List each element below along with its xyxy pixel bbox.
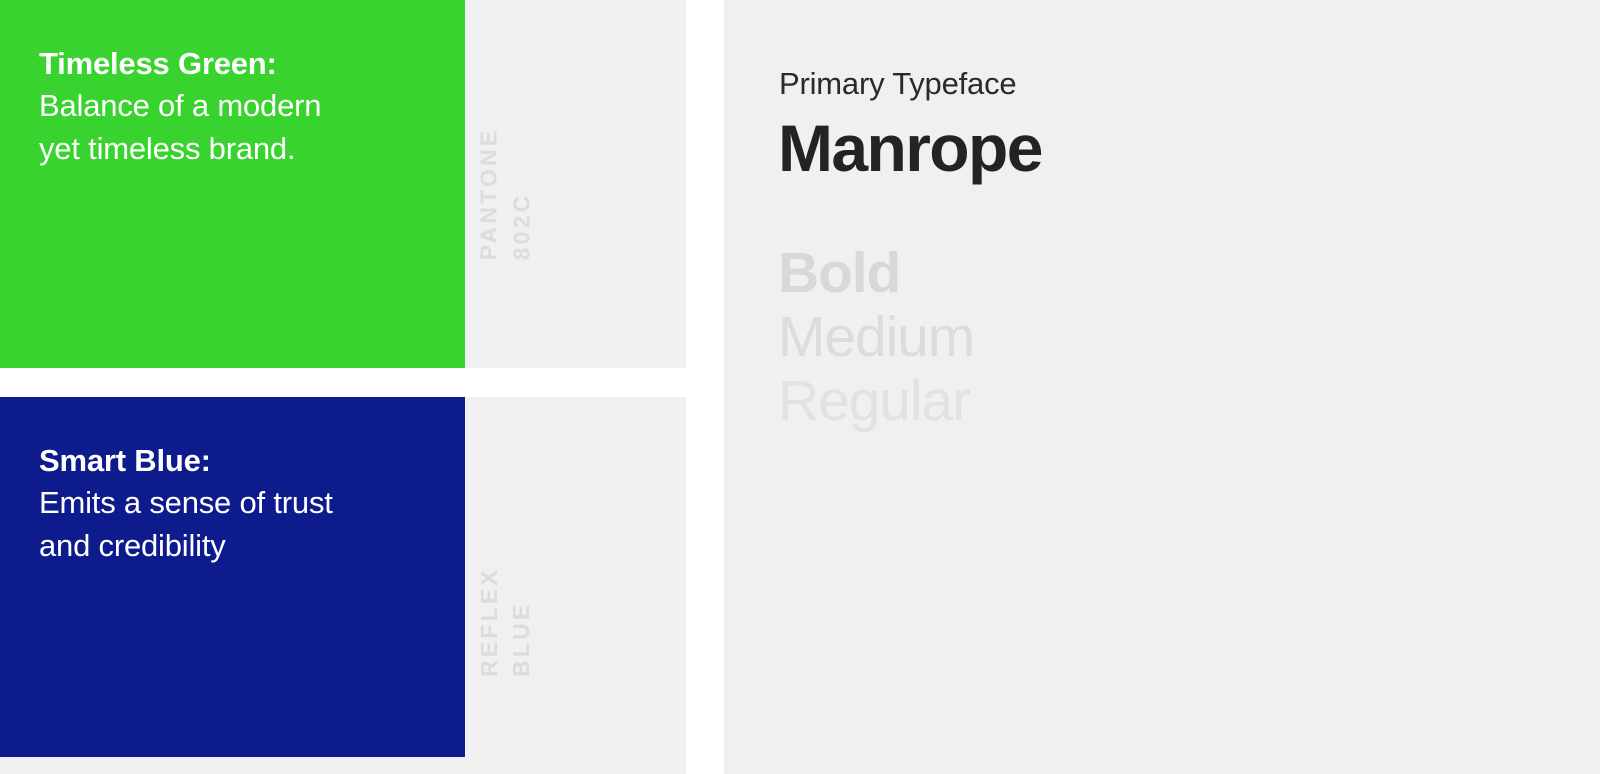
swatch-title-blue: Smart Blue: [39, 441, 425, 482]
typeface-name: Manrope [778, 112, 1042, 185]
swatch-title-green: Timeless Green: [39, 44, 425, 85]
primary-typeface-label: Primary Typeface [779, 66, 1016, 102]
swatch-description-green-line-2: yet timeless brand. [39, 128, 425, 171]
typography-section: Primary Typeface Manrope Bold Medium Reg… [724, 0, 1600, 774]
color-swatch-timeless-green: PANTONE 802C Timeless Green: Balance of … [0, 0, 686, 368]
font-weight-bold: Bold [778, 242, 974, 306]
font-weight-regular: Regular [778, 370, 974, 434]
swatch-description-blue-line-2: and credibility [39, 525, 425, 568]
swatch-description-blue-line-1: Emits a sense of trust [39, 482, 425, 525]
swatch-chip-blue: Smart Blue: Emits a sense of trust and c… [0, 397, 465, 757]
color-palette-section: PANTONE 802C Timeless Green: Balance of … [0, 0, 686, 774]
font-weight-medium: Medium [778, 306, 974, 370]
brand-style-guide-board: PANTONE 802C Timeless Green: Balance of … [0, 0, 1600, 774]
pantone-label-green: PANTONE 802C [473, 127, 538, 260]
color-swatch-smart-blue: PANTONE REFLEX BLUE Smart Blue: Emits a … [0, 397, 686, 757]
font-weight-list: Bold Medium Regular [778, 242, 974, 433]
swatch-description-green-line-1: Balance of a modern [39, 85, 425, 128]
swatch-chip-green: Timeless Green: Balance of a modern yet … [0, 0, 465, 368]
